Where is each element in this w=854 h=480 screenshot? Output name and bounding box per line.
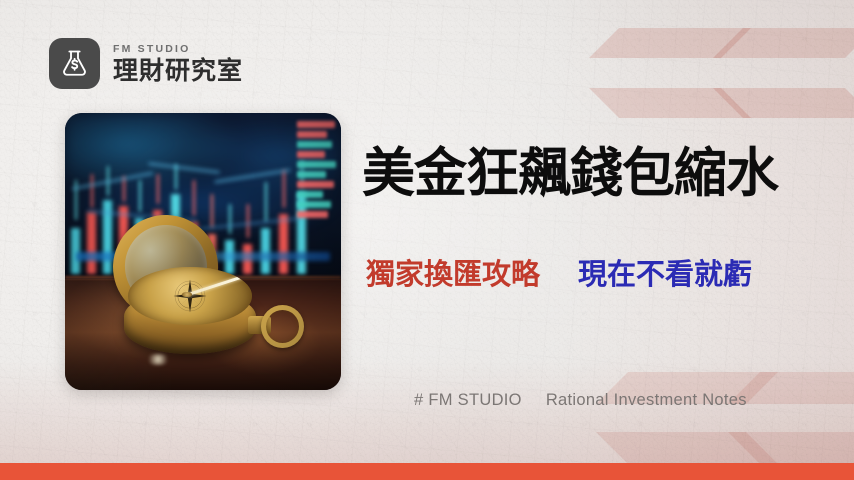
footer-hashtag: # FM STUDIO: [414, 391, 522, 410]
poster-canvas: FM STUDIO 理財研究室: [0, 0, 854, 480]
photo-vignette: [65, 113, 341, 390]
brand-zh-name: 理財研究室: [113, 58, 243, 84]
bottom-accent-bar: [0, 463, 854, 480]
footer-block: # FM STUDIO Rational Investment Notes: [414, 391, 747, 410]
brand-text-block: FM STUDIO 理財研究室: [113, 43, 243, 84]
flask-dollar-icon: [49, 38, 100, 89]
hero-photo-card: [65, 113, 341, 390]
headline-text: 美金狂飆錢包縮水: [362, 146, 832, 202]
headline-block: 美金狂飆錢包縮水: [362, 146, 832, 202]
hero-photo: [65, 113, 341, 390]
brand-lockup: FM STUDIO 理財研究室: [49, 38, 243, 89]
brand-en-name: FM STUDIO: [113, 43, 243, 56]
subheadline-left: 獨家換匯攻略: [366, 258, 540, 291]
subheadline-right: 現在不看就虧: [578, 258, 752, 291]
subheadline-block: 獨家換匯攻略 現在不看就虧: [366, 258, 836, 291]
footer-note: Rational Investment Notes: [546, 391, 747, 410]
